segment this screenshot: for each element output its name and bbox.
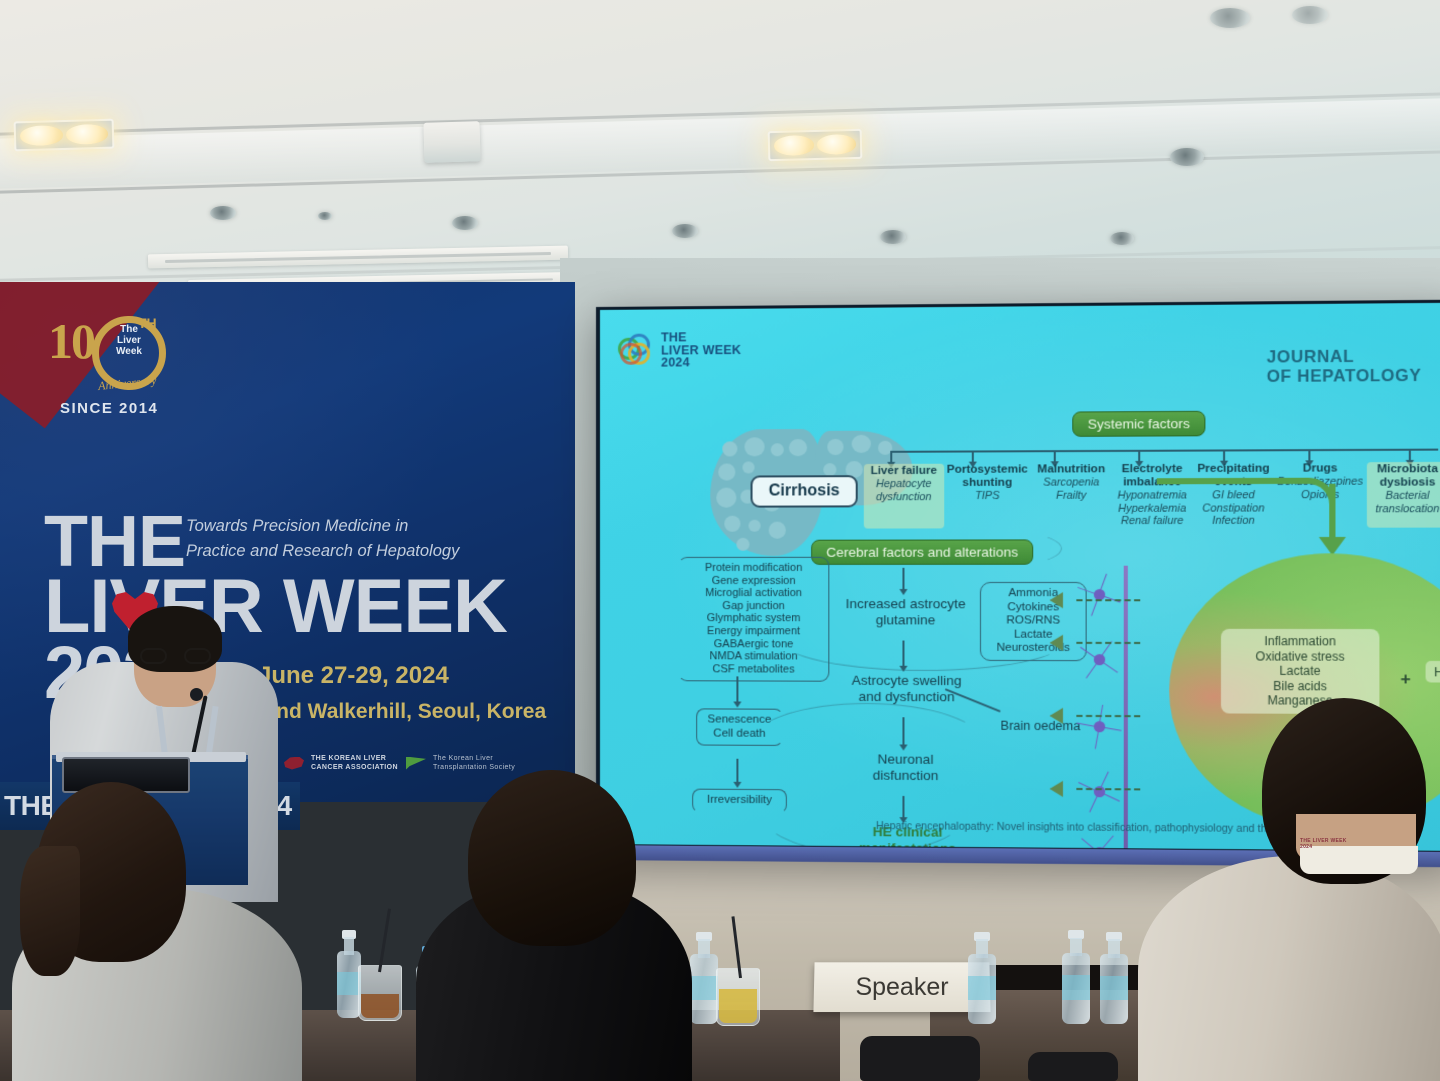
decorative-curve-4 (807, 523, 1062, 574)
slide-logo-line3: 2024 (661, 355, 690, 369)
mediator-item: ROS/RNS (989, 614, 1077, 628)
systemic-factor-liver-failure: Liver failure Hepatocyte dysfunction (864, 464, 944, 528)
liver-nodule (716, 488, 736, 508)
liver-nodule (852, 435, 871, 453)
systemic-tick (1223, 449, 1225, 461)
bbb-flux-arrow (1050, 635, 1063, 651)
sponsor-klca: THE KOREAN LIVERCANCER ASSOCIATION (284, 754, 398, 772)
banner-subtitle-line2: Practice and Research of Hepatology (186, 542, 459, 560)
downlight-7 (1170, 148, 1204, 166)
banner-date: June 27-29, 2024 (258, 662, 449, 690)
ceiling-spotlight-right (768, 129, 863, 161)
factor-detail: Sarcopenia (1034, 476, 1109, 489)
audience-person-right-collar (1300, 846, 1418, 874)
arrow-to-irreversibility (736, 759, 738, 783)
anniversary-since: SINCE 2014 (60, 400, 158, 417)
microphone-head (190, 688, 203, 701)
ellipse-item: Lactate (1227, 664, 1373, 679)
liver-nodule (724, 516, 740, 532)
systemic-factors-row: Liver failure Hepatocyte dysfunction Por… (864, 462, 1440, 528)
iced-drink-cup (358, 965, 402, 1021)
ceiling-projector-mount (423, 121, 480, 163)
downlight-3 (452, 216, 478, 230)
ellipse-item: Inflammation (1227, 634, 1373, 649)
liver-nodule (771, 443, 784, 456)
anniversary-inner-text: TheLiverWeek (100, 324, 158, 357)
banner-title-the: THE (44, 512, 185, 572)
mediator-item: Lactate (989, 628, 1077, 642)
factor-title: Liver failure (867, 465, 941, 478)
ceiling-spotlight-left (14, 119, 115, 152)
klca-logo-icon (284, 757, 304, 770)
factor-title: Microbiota dysbiosis (1369, 463, 1440, 490)
neuron-icon (1076, 704, 1125, 753)
slide-logo-text: THE LIVER WEEK 2024 (661, 331, 741, 369)
factor-detail: Bacterial (1369, 490, 1440, 503)
banner-subtitle: Towards Precision Medicine in Practice a… (186, 514, 516, 564)
anniversary-number: 10 (48, 312, 94, 370)
chair-back (1028, 1052, 1118, 1081)
systemic-factor-portosystemic-shunting: Portosystemic shunting TIPS (944, 463, 1031, 527)
water-bottle (690, 932, 718, 1024)
cerebral-item: CSF metabolites (683, 663, 824, 676)
hyperammonemia-label: Hyperammonemia (1426, 661, 1440, 683)
sponsor-klts-label: The Korean LiverTransplantation Society (433, 754, 515, 772)
mediator-item: Ammonia (989, 587, 1077, 601)
speaker-glasses-icon (140, 648, 212, 664)
liver-nodule (749, 520, 761, 532)
water-bottle (968, 932, 996, 1024)
factor-title: Drugs (1277, 462, 1363, 476)
factor-detail: Hepatocyte (867, 478, 941, 491)
liver-nodule (769, 522, 786, 539)
downlight-2 (318, 212, 332, 220)
decorative-curve-3 (757, 763, 970, 851)
bbb-dashed-line (1076, 599, 1140, 601)
journal-line1: JOURNAL (1267, 348, 1355, 367)
water-bottle (1062, 930, 1090, 1024)
factor-detail: Frailty (1034, 489, 1109, 502)
systemic-factors-banner: Systemic factors (1072, 411, 1205, 437)
liverweek-mark-icon (618, 333, 652, 367)
liver-nodule (744, 437, 764, 456)
downlight-9 (1292, 6, 1328, 24)
cerebral-item: Microglial activation (683, 587, 824, 600)
cerebral-item: Protein modification (683, 562, 824, 575)
cerebral-mechanisms-list: Protein modification Gene expression Mic… (678, 557, 829, 682)
downlight-8 (1210, 8, 1250, 28)
systemic-tick (1409, 449, 1411, 461)
chair-back (860, 1036, 980, 1081)
cirrhosis-label: Cirrhosis (751, 475, 858, 508)
banner-place: Grand Walkerhill, Seoul, Korea (240, 700, 546, 724)
audience-person-center-hair (468, 770, 636, 946)
downlight-6 (1110, 232, 1134, 245)
downlight-1 (210, 206, 236, 220)
bbb-dashed-line (1076, 788, 1140, 790)
ellipse-item: Bile acids (1227, 678, 1373, 693)
systemic-tick (890, 451, 892, 463)
mediators-box: Ammonia Cytokines ROS/RNS Lactate Neuros… (980, 582, 1087, 661)
klts-logo-icon (406, 757, 426, 770)
slide-liverweek-logo: THE LIVER WEEK 2024 (618, 331, 741, 369)
neuron-icon (1076, 572, 1125, 621)
photo-scene: 10 TH TheLiverWeek Anniversary SINCE 201… (0, 0, 1440, 1081)
journal-line2: OF HEPATOLOGY (1267, 367, 1422, 386)
factor-title: Malnutrition (1034, 463, 1109, 476)
anniversary-logo: 10 TH TheLiverWeek Anniversary SINCE 201… (40, 312, 200, 422)
liver-nodule (827, 439, 843, 455)
arrow-to-senescence (736, 676, 738, 702)
bbb-flux-arrow (1050, 592, 1063, 608)
downlight-4 (672, 224, 698, 238)
mediator-item: Cytokines (989, 601, 1077, 615)
water-bottle (1100, 932, 1128, 1024)
drinking-straw (378, 909, 391, 973)
systemic-factor-microbiota-dysbiosis: Microbiota dysbiosis Bacterial transloca… (1366, 462, 1440, 527)
sponsor-klts: The Korean LiverTransplantation Society (406, 754, 515, 772)
liver-nodule (736, 538, 749, 551)
liver-nodule (718, 463, 735, 480)
sponsor-klca-label: THE KOREAN LIVERCANCER ASSOCIATION (311, 754, 398, 772)
audience-badge-print: THE LIVER WEEK 2024 (1300, 838, 1348, 850)
speaker-nameplate-text: Speaker (855, 973, 948, 1002)
ceiling-vent-1 (148, 246, 568, 269)
systemic-factor-malnutrition: Malnutrition Sarcopenia Frailty (1031, 463, 1112, 528)
ceiling-band-upper (0, 96, 1440, 191)
big-green-arrow-bend (1157, 478, 1336, 525)
banner-subtitle-line1: Towards Precision Medicine in (186, 517, 408, 535)
speaker-nameplate: Speaker (813, 962, 990, 1012)
downlight-5 (880, 230, 906, 244)
liver-nodule (789, 439, 807, 456)
systemic-tick (972, 450, 974, 462)
bbb-flux-arrow (1050, 708, 1063, 724)
journal-of-hepatology-label: JOURNAL OF HEPATOLOGY (1267, 347, 1422, 387)
liver-nodule (742, 461, 754, 473)
systemic-tick (1138, 450, 1140, 462)
factor-detail: translocation (1369, 502, 1440, 515)
mediator-item: Neurosteroids (989, 642, 1077, 656)
audience-person-left-hair-strand (20, 846, 80, 976)
factor-title: Portosystemic shunting (947, 463, 1028, 490)
liver-nodule (722, 441, 737, 456)
ceiling (0, 0, 1440, 300)
audience-person-right-body (1138, 856, 1440, 1081)
bbb-dashed-line (1076, 642, 1140, 644)
systemic-tick (1308, 449, 1310, 461)
cerebral-item: Gap junction (683, 600, 824, 613)
plus-sign: + (1400, 669, 1410, 690)
factor-detail: dysfunction (867, 491, 941, 504)
factor-detail: TIPS (947, 490, 1028, 503)
systemic-tick (1054, 450, 1056, 462)
big-green-arrow-stem (1329, 484, 1335, 541)
bbb-flux-arrow (1050, 781, 1063, 797)
neuron-icon (1076, 637, 1125, 686)
ellipse-item: Oxidative stress (1227, 649, 1373, 664)
neuron-icon (1076, 769, 1125, 818)
cerebral-item: Gene expression (683, 575, 824, 588)
bbb-dashed-line (1076, 715, 1140, 717)
